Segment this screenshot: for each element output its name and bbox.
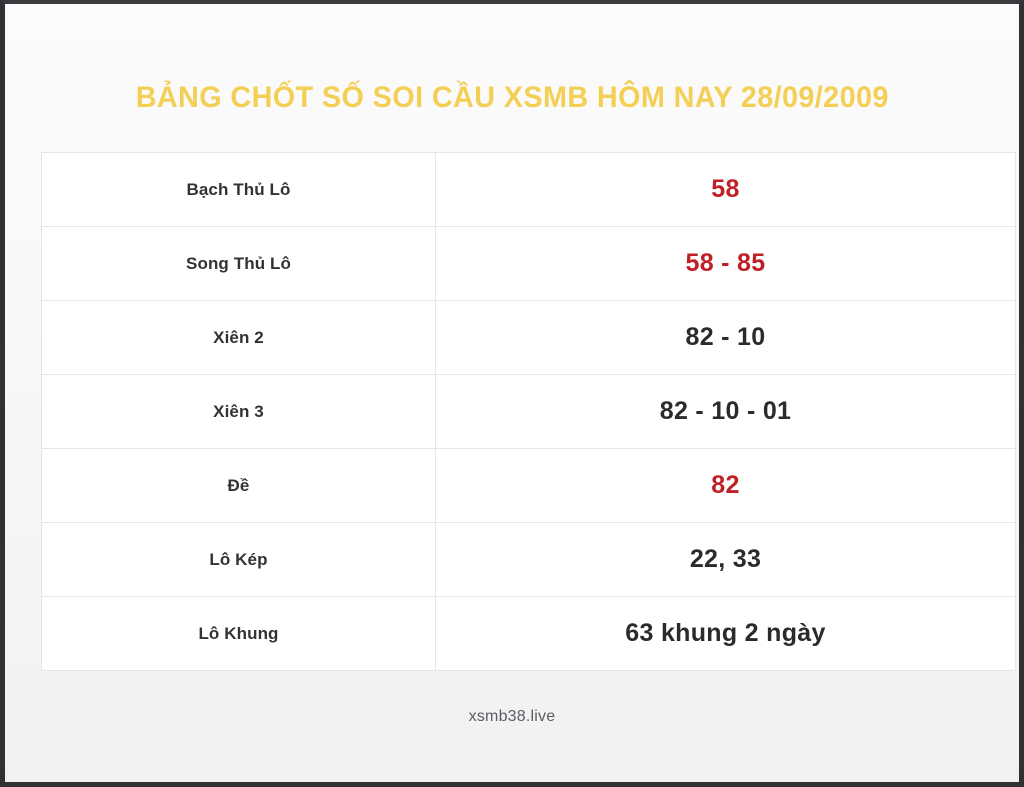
table-cell-value: 22, 33 [436,523,1016,597]
row-label: Đề [228,476,250,495]
table-row: Song Thủ Lô 58 - 85 [42,227,1016,301]
table-row: Lô Kép 22, 33 [42,523,1016,597]
site-watermark: xsmb38.live [469,708,556,726]
table-row: Lô Khung 63 khung 2 ngày [42,597,1016,671]
row-value: 63 khung 2 ngày [625,619,825,647]
row-value: 58 - 85 [686,249,766,277]
page-title-container: BẢNG CHỐT SỐ SOI CẦU XSMB HÔM NAY 28/09/… [5,74,1019,122]
table-cell-label: Đề [42,449,436,523]
table-cell-value: 58 [436,153,1016,227]
row-label: Lô Kép [209,550,267,569]
page-sheet: BẢNG CHỐT SỐ SOI CẦU XSMB HÔM NAY 28/09/… [5,4,1019,782]
table-cell-label: Lô Kép [42,523,436,597]
table-cell-value: 63 khung 2 ngày [436,597,1016,671]
table-cell-label: Song Thủ Lô [42,227,436,301]
row-value: 22, 33 [690,545,761,573]
table-cell-label: Lô Khung [42,597,436,671]
table-row: Xiên 2 82 - 10 [42,301,1016,375]
row-value: 82 - 10 [686,323,766,351]
prediction-table: Bạch Thủ Lô 58 Song Thủ Lô 58 - 85 [41,152,1016,671]
table-row: Bạch Thủ Lô 58 [42,153,1016,227]
prediction-table-body: Bạch Thủ Lô 58 Song Thủ Lô 58 - 85 [42,153,1016,671]
table-row: Đề 82 [42,449,1016,523]
row-label: Xiên 3 [213,402,264,421]
table-cell-value: 82 - 10 [436,301,1016,375]
table-cell-label: Xiên 3 [42,375,436,449]
page-title: BẢNG CHỐT SỐ SOI CẦU XSMB HÔM NAY 28/09/… [135,81,888,115]
table-cell-label: Xiên 2 [42,301,436,375]
row-value: 82 - 10 - 01 [660,397,791,425]
table-cell-value: 82 - 10 - 01 [436,375,1016,449]
row-value: 58 [711,175,739,203]
row-label: Lô Khung [198,624,278,643]
footer: xsmb38.live [5,704,1019,730]
page-frame: BẢNG CHỐT SỐ SOI CẦU XSMB HÔM NAY 28/09/… [0,0,1024,787]
table-cell-value: 82 [436,449,1016,523]
table-row: Xiên 3 82 - 10 - 01 [42,375,1016,449]
row-label: Bạch Thủ Lô [186,180,290,199]
row-value: 82 [711,471,739,499]
row-label: Xiên 2 [213,328,264,347]
table-cell-value: 58 - 85 [436,227,1016,301]
table-cell-label: Bạch Thủ Lô [42,153,436,227]
row-label: Song Thủ Lô [186,254,291,273]
